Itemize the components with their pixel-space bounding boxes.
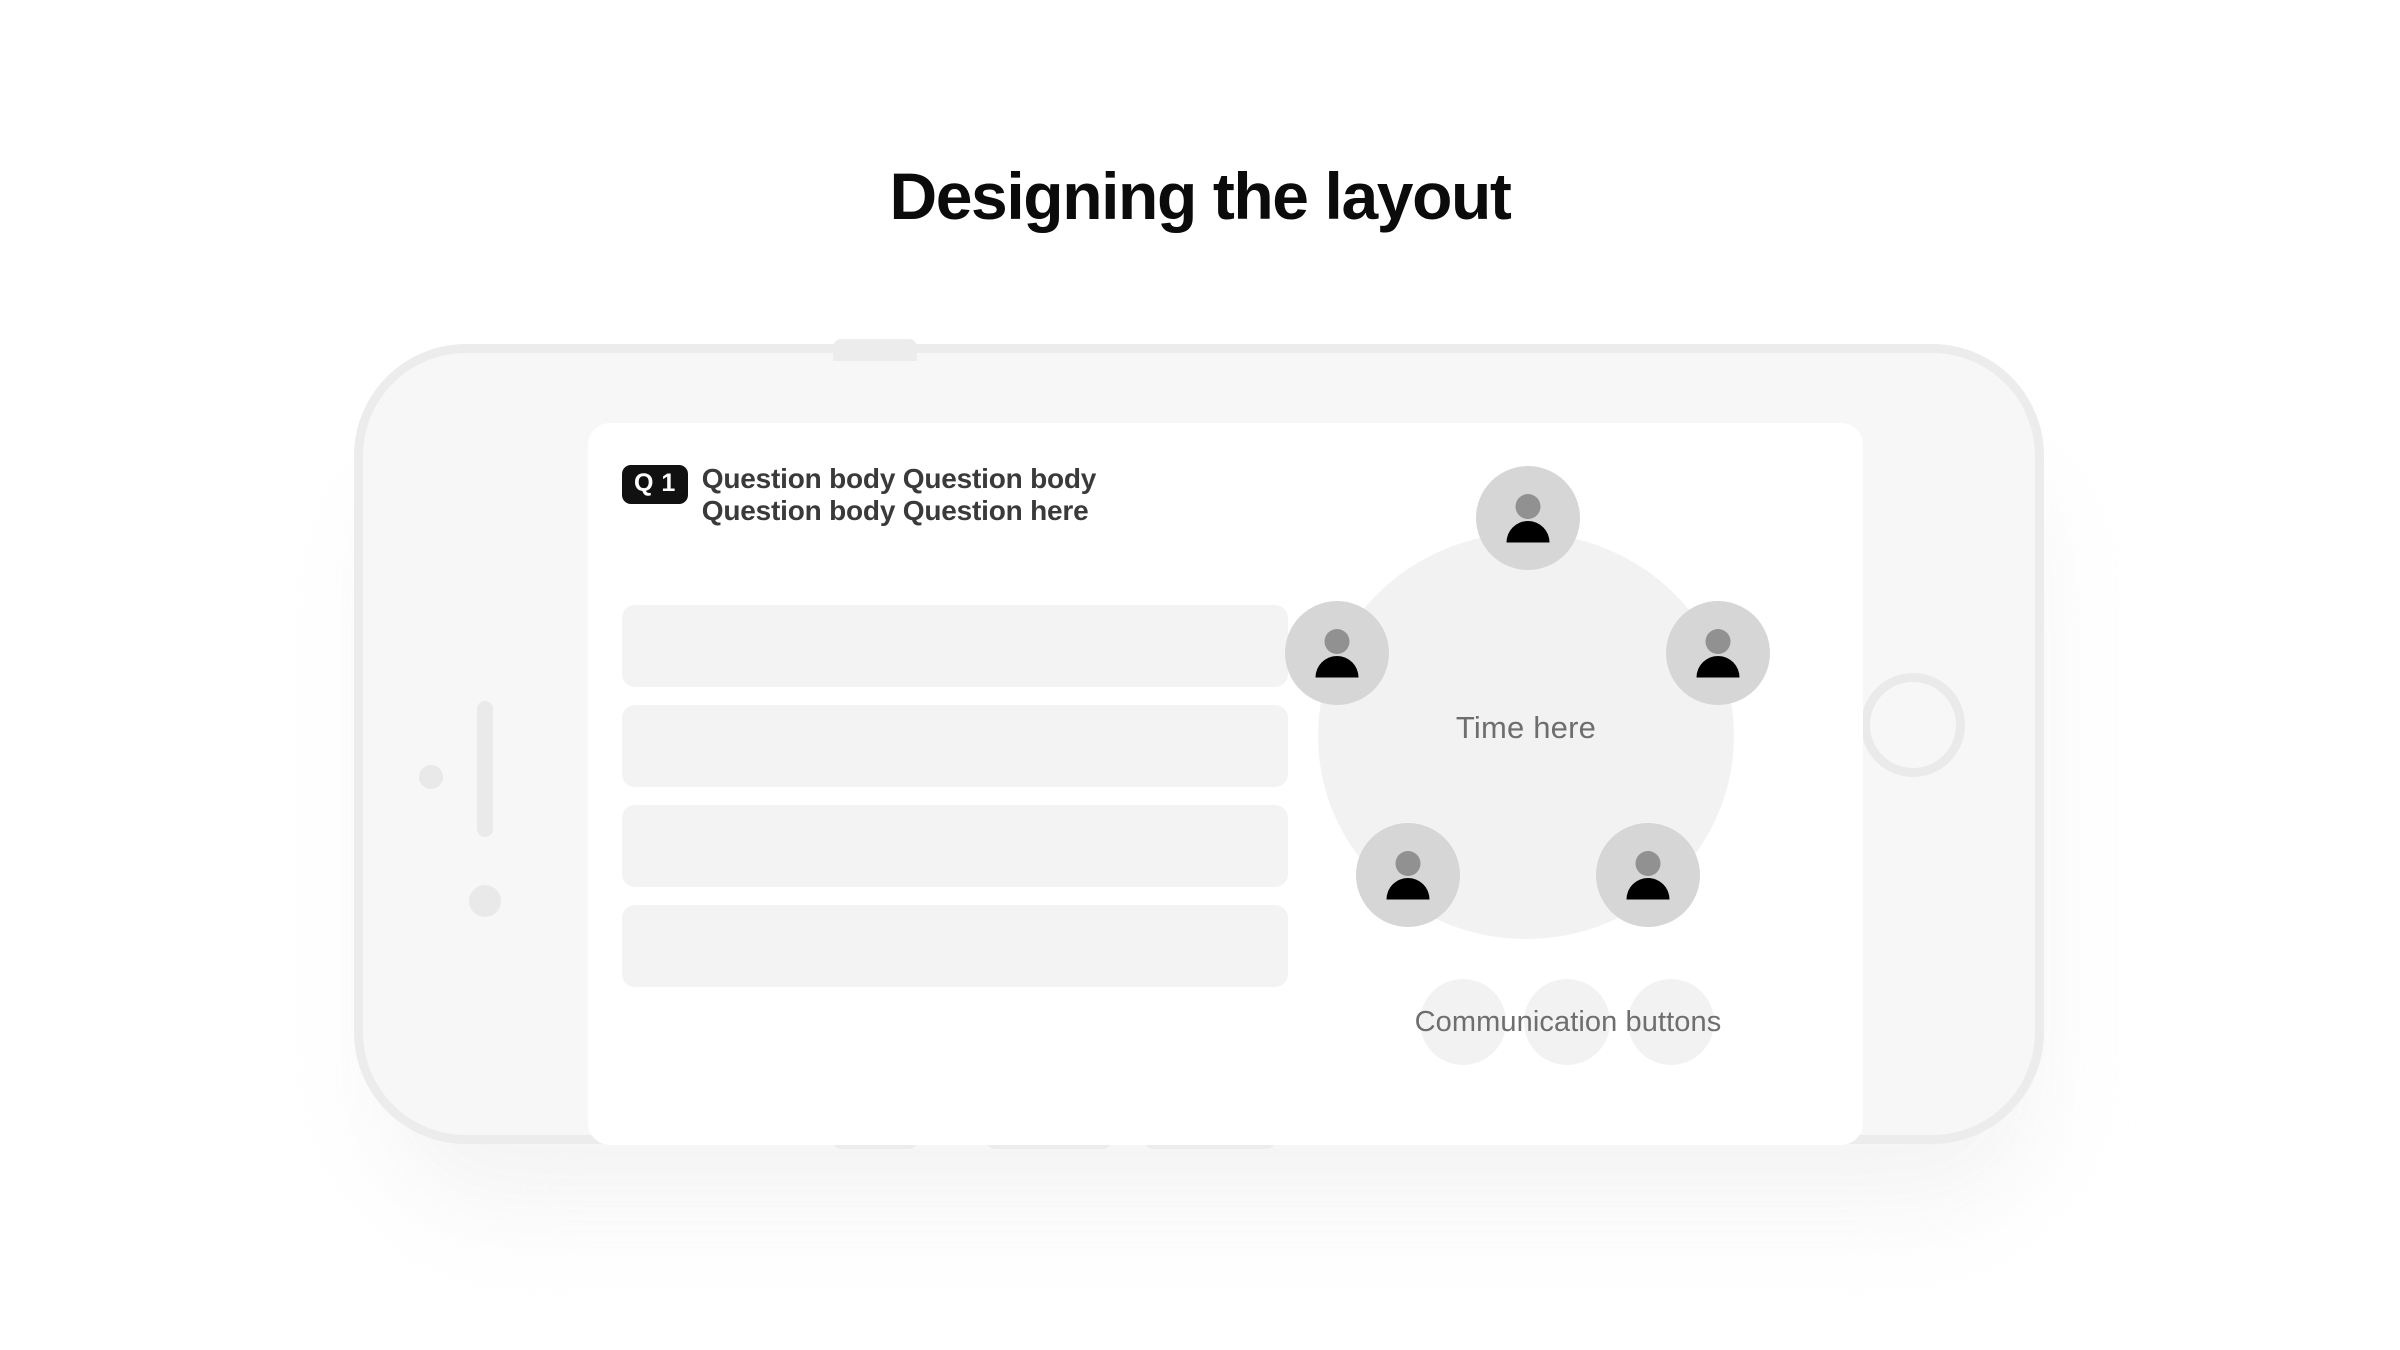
person-icon bbox=[1666, 601, 1770, 705]
participant-avatar-bottom-right[interactable] bbox=[1596, 823, 1700, 927]
phone-body: Q 1 Question body Question body Question… bbox=[354, 344, 2044, 1144]
camera-dot-icon bbox=[419, 765, 443, 789]
answer-option-2[interactable] bbox=[622, 705, 1288, 787]
participant-avatar-left[interactable] bbox=[1285, 601, 1389, 705]
home-button[interactable] bbox=[1861, 673, 1965, 777]
speaker-grille-icon bbox=[477, 701, 493, 837]
question-body-text: Question body Question body Question bod… bbox=[702, 463, 1222, 527]
video-call-panel: Time here bbox=[1288, 423, 1863, 1145]
phone-screen: Q 1 Question body Question body Question… bbox=[588, 423, 1863, 1145]
answer-option-1[interactable] bbox=[622, 605, 1288, 687]
communication-buttons-label: Communication buttons bbox=[1358, 1006, 1778, 1039]
person-icon bbox=[1596, 823, 1700, 927]
communication-buttons-row: Communication buttons bbox=[1420, 979, 1720, 1067]
participant-avatar-right[interactable] bbox=[1666, 601, 1770, 705]
page-title: Designing the layout bbox=[0, 163, 2400, 229]
answer-options-list bbox=[622, 605, 1288, 987]
question-row: Q 1 Question body Question body Question… bbox=[622, 463, 1242, 527]
participant-avatar-bottom-left[interactable] bbox=[1356, 823, 1460, 927]
answer-option-4[interactable] bbox=[622, 905, 1288, 987]
participant-avatar-top[interactable] bbox=[1476, 466, 1580, 570]
person-icon bbox=[1356, 823, 1460, 927]
question-number-badge: Q 1 bbox=[622, 465, 688, 504]
call-timer-label: Time here bbox=[1318, 710, 1734, 746]
person-icon bbox=[1476, 466, 1580, 570]
front-camera-icon bbox=[469, 885, 501, 917]
phone-mockup: Q 1 Question body Question body Question… bbox=[340, 330, 2070, 1170]
person-icon bbox=[1285, 601, 1389, 705]
answer-option-3[interactable] bbox=[622, 805, 1288, 887]
silent-switch-button[interactable] bbox=[833, 339, 917, 361]
